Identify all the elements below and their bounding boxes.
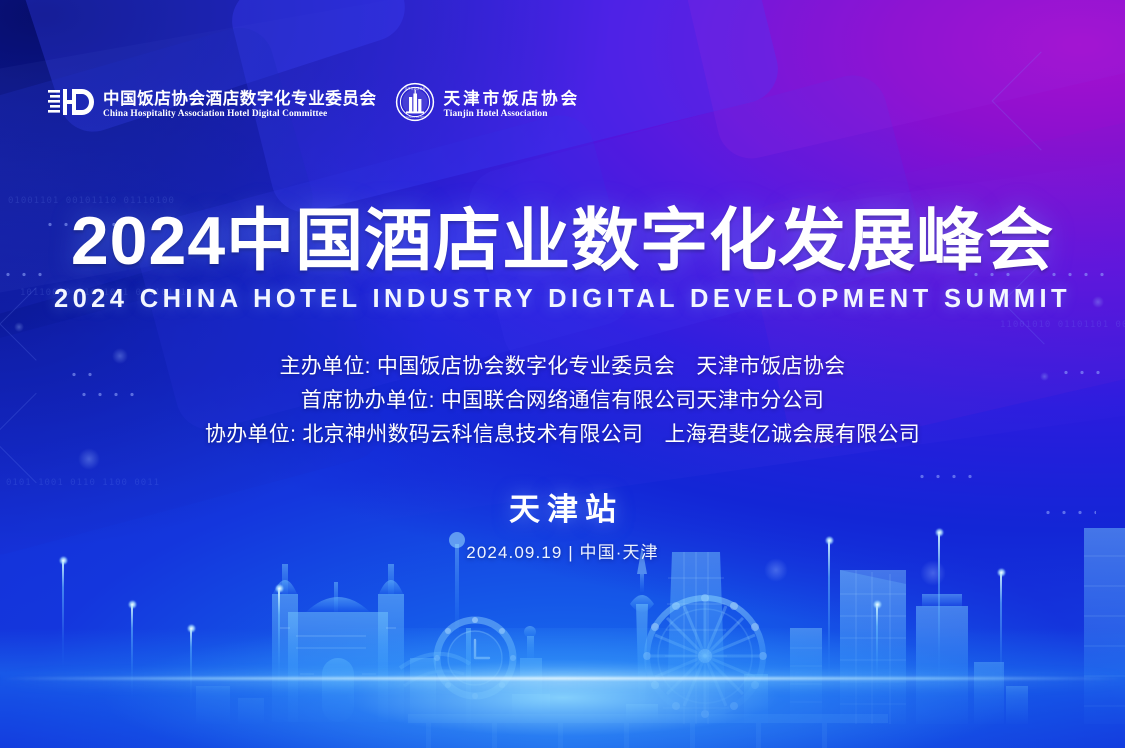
logo-name-cn: 天津市饭店协会 [444,90,581,108]
organizer-line: 首席协办单位: 中国联合网络通信有限公司天津市分公司 [0,384,1125,418]
logo-name-cn: 中国饭店协会酒店数字化专业委员会 [103,90,377,108]
logo-name-en: China Hospitality Association Hotel Digi… [103,109,377,119]
horizon-glow [0,628,1125,748]
chd-monogram-icon [48,85,94,124]
logo-name-en: Tianjin Hotel Association [444,109,581,119]
horizon-glow-soft [0,674,1125,686]
logo-china-hospitality-association: 中国饭店协会酒店数字化专业委员会 China Hospitality Assoc… [48,85,377,124]
logo-text-block: 天津市饭店协会 Tianjin Hotel Association [444,90,581,119]
organizer-line: 主办单位: 中国饭店协会数字化专业委员会 天津市饭店协会 [0,350,1125,384]
organizer-block: 主办单位: 中国饭店协会数字化专业委员会 天津市饭店协会 首席协办单位: 中国联… [0,350,1125,452]
event-station: 天津站 [0,484,1125,529]
poster-title-en: 2024 CHINA HOTEL INDUSTRY DIGITAL DEVELO… [0,285,1125,313]
event-date-location: 2024.09.19 | 中国·天津 [0,538,1125,563]
organizer-line: 协办单位: 北京神州数码云科信息技术有限公司 上海君斐亿诚会展有限公司 [0,418,1125,452]
svg-text:TIANJIN HOTEL: TIANJIN HOTEL [404,115,426,119]
horizon-line [0,677,1125,680]
logo-text-block: 中国饭店协会酒店数字化专业委员会 China Hospitality Assoc… [103,90,377,119]
poster-title-cn: 2024中国酒店业数字化发展峰会 [0,206,1125,277]
event-poster: 01001101 00101110 01110100 10110010 0100… [0,0,1125,748]
event-location-block: 天津站 2024.09.19 | 中国·天津 [0,484,1125,563]
tianjin-seal-icon: 天津市饭店协会 TIANJIN HOTEL [395,82,435,127]
logo-tianjin-hotel-association: 天津市饭店协会 TIANJIN HOTEL 天津市饭店协会 Tianjin Ho… [395,82,581,127]
logo-bar: 中国饭店协会酒店数字化专业委员会 China Hospitality Assoc… [48,82,580,127]
title-block: 2024中国酒店业数字化发展峰会 2024 CHINA HOTEL INDUST… [0,206,1125,313]
svg-text:天津市饭店协会: 天津市饭店协会 [404,86,425,91]
